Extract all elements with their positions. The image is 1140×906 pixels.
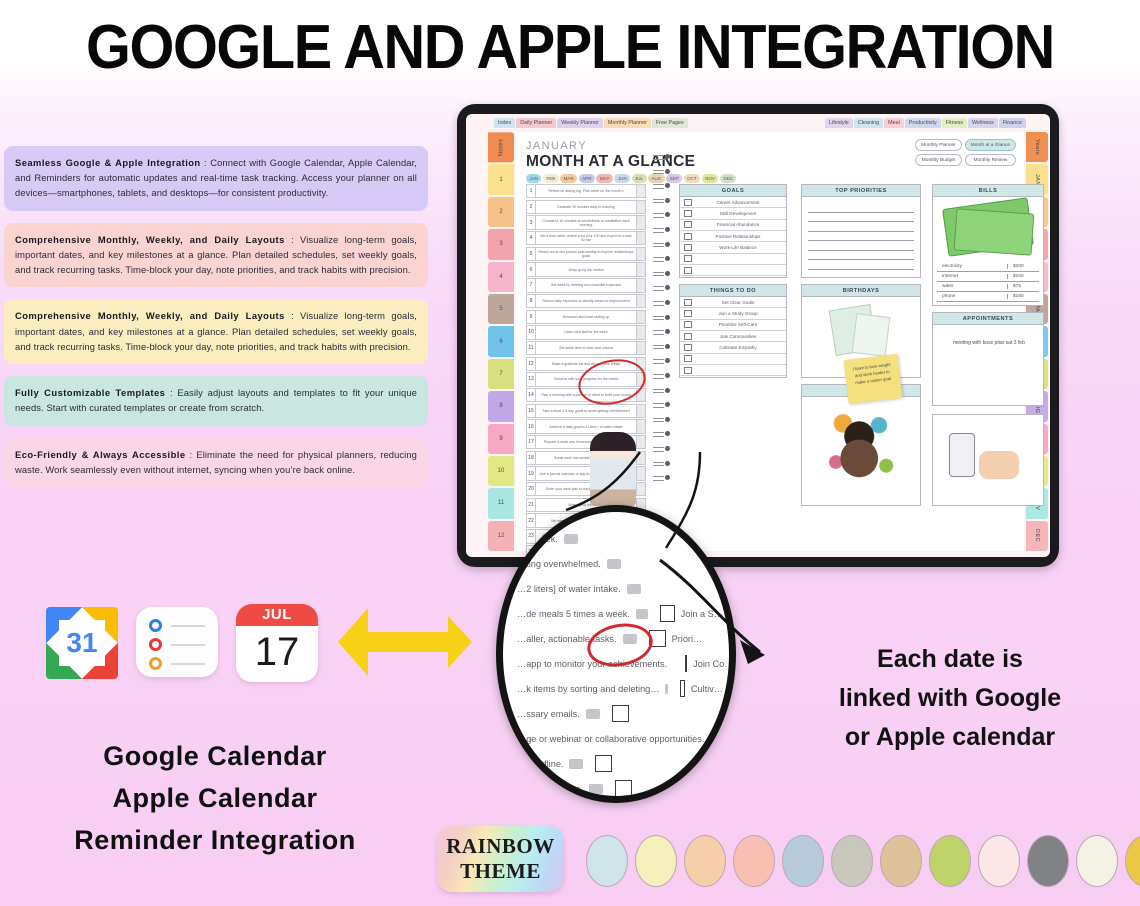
date-number[interactable]: 10 bbox=[526, 325, 536, 339]
goal-row[interactable] bbox=[680, 265, 786, 276]
left-arrow-icon bbox=[336, 602, 476, 682]
magnified-checkbox-label: Priori… bbox=[672, 634, 703, 644]
feature-card-customizable-templates: Fully Customizable Templates : Easily ad… bbox=[4, 376, 428, 425]
date-task[interactable]: Learn new skill for the week bbox=[536, 325, 637, 339]
todo-label: Set Clear Goals bbox=[696, 300, 786, 305]
date-number[interactable]: 5 bbox=[526, 247, 536, 261]
checkbox[interactable] bbox=[684, 267, 692, 274]
birthdays-art-2 bbox=[852, 313, 891, 357]
magnified-checkbox[interactable] bbox=[722, 730, 724, 747]
todo-label: Prioritize Self-Care bbox=[696, 322, 786, 327]
magnified-pip[interactable] bbox=[607, 559, 621, 569]
month-pill-jan[interactable]: JAN bbox=[526, 174, 541, 183]
todo-row[interactable]: Join Communities bbox=[680, 331, 786, 342]
spiral-ring bbox=[653, 198, 670, 203]
sticky-note[interactable]: I have to lose weight and work harder to… bbox=[844, 354, 903, 404]
date-checkbox[interactable] bbox=[637, 325, 646, 339]
feature-card-eco-friendly: Eco-Friendly & Always Accessible : Elimi… bbox=[4, 438, 428, 487]
spiral-ring bbox=[653, 183, 670, 188]
month-pill-may[interactable]: MAY bbox=[596, 174, 612, 183]
color-swatch-5[interactable] bbox=[782, 835, 824, 887]
date-row[interactable]: 11Set aside time to relax and unwind bbox=[526, 341, 646, 355]
color-swatch-7[interactable] bbox=[880, 835, 922, 887]
todo-label: Join a Study Group bbox=[696, 311, 786, 316]
magnified-pip[interactable] bbox=[569, 759, 583, 769]
feature-heading: Seamless Google & Apple Integration bbox=[15, 157, 201, 168]
spiral-ring bbox=[653, 475, 670, 480]
date-number[interactable]: 14 bbox=[526, 388, 536, 402]
todo-row[interactable] bbox=[680, 354, 786, 365]
page-tab-11[interactable]: 11 bbox=[488, 488, 514, 518]
magnified-checkbox-label: Cultiv… bbox=[691, 684, 723, 694]
date-number[interactable]: 21 bbox=[526, 498, 536, 512]
date-checkbox[interactable] bbox=[637, 278, 646, 292]
todo-row[interactable]: Join a Study Group bbox=[680, 308, 786, 319]
feature-heading: Comprehensive Monthly, Weekly, and Daily… bbox=[15, 310, 285, 321]
date-task[interactable]: Reflect on asking big. Plan week vs. the… bbox=[536, 184, 637, 198]
magnified-row[interactable]: …k items by sorting and deleting…Cultiv… bbox=[517, 676, 723, 701]
feature-heading: Eco-Friendly & Always Accessible bbox=[15, 449, 185, 460]
date-checkbox[interactable] bbox=[637, 231, 646, 245]
date-row[interactable]: 15Take a short 1-3 day goals to avoid ge… bbox=[526, 404, 646, 418]
apple-calendar-icon[interactable]: JUL 17 bbox=[236, 604, 318, 682]
page-tab-1[interactable]: 1 bbox=[488, 164, 514, 194]
date-row[interactable]: 9Research and chart setting up bbox=[526, 310, 646, 324]
spiral-ring bbox=[653, 256, 670, 261]
spiral-ring bbox=[653, 431, 670, 436]
page-tab-3[interactable]: 3 bbox=[488, 229, 514, 259]
date-checkbox[interactable] bbox=[637, 341, 646, 355]
tab-index[interactable]: Index bbox=[494, 118, 515, 128]
tab-cleaning[interactable]: Cleaning bbox=[854, 118, 883, 128]
todo-row[interactable]: Set Clear Goals bbox=[680, 297, 786, 308]
goal-row[interactable]: Positive Relationships bbox=[680, 231, 786, 242]
google-calendar-icon[interactable]: 31 bbox=[46, 607, 118, 679]
color-swatch-2[interactable] bbox=[635, 835, 677, 887]
date-number[interactable]: 1 bbox=[526, 184, 536, 198]
girl-illustration bbox=[590, 432, 636, 506]
reminder-dot-red bbox=[149, 638, 162, 651]
tab-wellness[interactable]: Wellness bbox=[968, 118, 998, 128]
goals-rows[interactable]: Career AdvancementSkill DevelopmentFinan… bbox=[680, 197, 786, 276]
color-swatch-3[interactable] bbox=[684, 835, 726, 887]
magnified-text: …app to monitor your achievements. bbox=[517, 659, 667, 669]
goal-label: Work-Life Balance bbox=[696, 245, 786, 250]
checkbox[interactable] bbox=[684, 299, 692, 306]
reminder-dot-orange bbox=[149, 657, 162, 670]
magnified-pip[interactable] bbox=[636, 609, 648, 619]
magnified-row[interactable]: …ting overwhelmed. bbox=[517, 551, 723, 576]
goal-row[interactable] bbox=[680, 254, 786, 265]
planner-view-buttons[interactable]: Monthly PlannerMonth at a GlanceMonthly … bbox=[915, 139, 1016, 166]
checkbox[interactable] bbox=[684, 344, 692, 351]
feature-list: Seamless Google & Apple Integration : Co… bbox=[4, 146, 428, 499]
feature-heading: Fully Customizable Templates bbox=[15, 387, 165, 398]
things-to-do-header: THINGS TO DO bbox=[680, 285, 786, 297]
bill-name: water bbox=[937, 284, 1007, 289]
page-title: GOOGLE AND APPLE INTEGRATION bbox=[40, 12, 1100, 83]
spiral-ring bbox=[653, 446, 670, 451]
date-row[interactable]: 8Record daily expenses to identify areas… bbox=[526, 294, 646, 308]
feature-card-layouts-yellow: Comprehensive Monthly, Weekly, and Daily… bbox=[4, 299, 428, 364]
date-row[interactable]: 5Reach out to one person past identity t… bbox=[526, 247, 646, 261]
magnified-text: …ting overwhelmed. bbox=[517, 559, 601, 569]
date-checkbox[interactable] bbox=[637, 466, 646, 480]
date-number[interactable]: 17 bbox=[526, 435, 536, 449]
caption-line: Google Calendar bbox=[0, 736, 430, 778]
magnified-text: …deadline. bbox=[517, 759, 563, 769]
top-priorities-card: TOP PRIORITIES bbox=[801, 184, 921, 278]
goals-header: GOALS bbox=[680, 185, 786, 197]
magnified-checkbox[interactable] bbox=[685, 655, 687, 672]
reminder-line-3 bbox=[171, 663, 205, 665]
magnified-text: …2 liters] of water intake. bbox=[517, 584, 621, 594]
tab-group-left: IndexDaily PlannerWeekly PlannerMonthly … bbox=[494, 118, 688, 128]
things-to-do-rows[interactable]: Set Clear GoalsJoin a Study GroupPriorit… bbox=[680, 297, 786, 376]
date-row[interactable]: 2Dedicate 30 minutes daily to learning bbox=[526, 200, 646, 214]
spiral-ring bbox=[653, 271, 670, 276]
view-button-monthly-budget[interactable]: Monthly Budget bbox=[915, 154, 962, 166]
month-pill-jul[interactable]: JUL bbox=[632, 174, 647, 183]
date-checkbox[interactable] bbox=[637, 435, 646, 449]
bills-rows[interactable]: electricity$200internet$100water$75phone… bbox=[937, 262, 1039, 302]
spiral-binding bbox=[651, 154, 673, 545]
magnified-text: …ge or webinar or collaborative opportun… bbox=[517, 734, 704, 744]
page-tab-6[interactable]: 6 bbox=[488, 326, 514, 356]
rainbow-theme-badge: RAINBOW THEME bbox=[437, 826, 564, 892]
magnified-text: …nal expenses. bbox=[517, 784, 583, 794]
right-annotation-note: Each date islinked with Googleor Apple c… bbox=[770, 640, 1130, 756]
google-calendar-day: 31 bbox=[59, 620, 105, 666]
date-number[interactable]: 13 bbox=[526, 372, 536, 386]
planner-page: JANUARY MONTH AT A GLANCE Monthly Planne… bbox=[516, 132, 1024, 551]
planner-tabbar: IndexDaily PlannerWeekly PlannerMonthly … bbox=[466, 118, 1050, 131]
page-tab-5[interactable]: 5 bbox=[488, 294, 514, 324]
date-checkbox[interactable] bbox=[637, 482, 646, 496]
bills-card: BILLS electricity$200internet$100water$7… bbox=[932, 184, 1044, 306]
checkbox[interactable] bbox=[684, 199, 692, 206]
bill-amount: $200 bbox=[1007, 264, 1039, 269]
magnified-checkbox[interactable] bbox=[612, 705, 629, 722]
spiral-ring bbox=[653, 300, 670, 305]
date-task[interactable]: Research and chart setting up bbox=[536, 310, 637, 324]
magnified-checkbox[interactable] bbox=[615, 780, 632, 797]
things-to-do-card: THINGS TO DO Set Clear GoalsJoin a Study… bbox=[679, 284, 787, 378]
month-pill-apr[interactable]: APR bbox=[579, 174, 595, 183]
spiral-ring bbox=[653, 315, 670, 320]
date-number[interactable]: 22 bbox=[526, 513, 536, 527]
magnified-text: …k items by sorting and deleting… bbox=[517, 684, 659, 694]
checkbox[interactable] bbox=[684, 244, 692, 251]
checkbox[interactable] bbox=[684, 221, 692, 228]
spiral-ring bbox=[653, 285, 670, 290]
date-number[interactable]: 19 bbox=[526, 466, 536, 480]
goal-row[interactable]: Work-Life Balance bbox=[680, 242, 786, 253]
date-number[interactable]: 11 bbox=[526, 341, 536, 355]
bills-header: BILLS bbox=[933, 185, 1043, 197]
spiral-ring bbox=[653, 227, 670, 232]
bill-row[interactable]: internet$100 bbox=[937, 272, 1039, 282]
month-tab-dec[interactable]: DEC bbox=[1026, 521, 1048, 551]
spiral-ring bbox=[653, 461, 670, 466]
caption-line: Apple Calendar bbox=[0, 778, 430, 820]
spiral-ring bbox=[653, 344, 670, 349]
goal-row[interactable]: Career Advancement bbox=[680, 197, 786, 208]
date-row[interactable]: 6Wrap up by the market bbox=[526, 262, 646, 276]
date-row[interactable]: 3Commit to 15 minutes of mindfulness or … bbox=[526, 215, 646, 229]
magnified-text: …de meals 5 times a week. bbox=[517, 609, 630, 619]
goal-row[interactable]: Financial Abundance bbox=[680, 220, 786, 231]
checkbox[interactable] bbox=[684, 310, 692, 317]
date-row[interactable]: 7Set week by deleting non-essential expe… bbox=[526, 278, 646, 292]
magnified-text: …ssary emails. bbox=[517, 709, 580, 719]
bill-name: internet bbox=[937, 274, 1007, 279]
appointments-header: APPOINTMENTS bbox=[933, 313, 1043, 325]
bill-amount: $75 bbox=[1007, 284, 1039, 289]
date-number[interactable]: 15 bbox=[526, 404, 536, 418]
appointments-note[interactable]: meeting with boss pitar sat 3 feb bbox=[949, 339, 1029, 349]
goal-row[interactable]: Skill Development bbox=[680, 208, 786, 219]
month-pill-oct[interactable]: OCT bbox=[684, 174, 700, 183]
badge-line-2: THEME bbox=[460, 859, 541, 884]
tab-monthly-planner[interactable]: Monthly Planner bbox=[604, 118, 651, 128]
month-tab-years[interactable]: Years bbox=[1026, 132, 1048, 162]
date-checkbox[interactable] bbox=[637, 294, 646, 308]
bill-row[interactable]: water$75 bbox=[937, 282, 1039, 292]
page-tab-4[interactable]: 4 bbox=[488, 262, 514, 292]
date-number[interactable]: 12 bbox=[526, 357, 536, 371]
magnified-checkbox[interactable] bbox=[595, 755, 612, 772]
magnified-row[interactable]: …nal expenses. bbox=[517, 776, 723, 801]
feature-heading: Comprehensive Monthly, Weekly, and Daily… bbox=[15, 234, 285, 245]
todo-row[interactable]: Cultivate Empathy bbox=[680, 342, 786, 353]
date-task[interactable]: Set aside time to relax and unwind bbox=[536, 341, 637, 355]
color-swatch-9[interactable] bbox=[978, 835, 1020, 887]
goal-label: Financial Abundance bbox=[696, 222, 786, 227]
date-number[interactable]: 8 bbox=[526, 294, 536, 308]
checkbox[interactable] bbox=[684, 333, 692, 340]
todo-label: Join Communities bbox=[696, 334, 786, 339]
top-priorities-header: TOP PRIORITIES bbox=[802, 185, 920, 197]
hand-icon bbox=[979, 451, 1019, 479]
tab-fitness[interactable]: Fitness bbox=[942, 118, 967, 128]
magnified-pip[interactable] bbox=[586, 709, 600, 719]
right-note-line: Each date is bbox=[770, 640, 1130, 679]
page-tab-7[interactable]: 7 bbox=[488, 359, 514, 389]
date-number[interactable]: 20 bbox=[526, 482, 536, 496]
magnified-checkbox[interactable] bbox=[680, 680, 685, 697]
magnified-pip[interactable] bbox=[564, 534, 578, 544]
color-swatch-row[interactable] bbox=[586, 835, 1140, 887]
date-number[interactable]: 9 bbox=[526, 310, 536, 324]
date-task[interactable]: Dedicate 30 minutes daily to learning bbox=[536, 200, 637, 214]
magnified-checkbox[interactable] bbox=[660, 605, 675, 622]
date-checkbox[interactable] bbox=[637, 262, 646, 276]
date-task[interactable]: Commit to 15 minutes of mindfulness or m… bbox=[536, 215, 637, 229]
feature-card-layouts-pink: Comprehensive Monthly, Weekly, and Daily… bbox=[4, 223, 428, 288]
date-number[interactable]: 18 bbox=[526, 451, 536, 465]
page-tab-10[interactable]: 10 bbox=[488, 456, 514, 486]
spiral-ring bbox=[653, 169, 670, 174]
spiral-ring bbox=[653, 358, 670, 363]
date-checkbox[interactable] bbox=[637, 215, 646, 229]
date-number[interactable]: 7 bbox=[526, 278, 536, 292]
date-checkbox[interactable] bbox=[637, 419, 646, 433]
tab-free-pages[interactable]: Free Pages bbox=[652, 118, 688, 128]
date-task[interactable]: Record daily expenses to identify areas … bbox=[536, 294, 637, 308]
top-priorities-lines[interactable] bbox=[802, 197, 920, 270]
date-task[interactable]: Take a short 1-3 day goals to avoid gett… bbox=[536, 404, 637, 418]
goal-label: Career Advancement bbox=[696, 200, 786, 205]
tab-finance[interactable]: Finance bbox=[999, 118, 1026, 128]
money-illustration-2 bbox=[954, 208, 1035, 255]
right-note-line: or Apple calendar bbox=[770, 718, 1130, 757]
magnified-row[interactable]: …ssary emails. bbox=[517, 701, 723, 726]
page-tab-12[interactable]: 12 bbox=[488, 521, 514, 551]
date-row[interactable]: 10Learn new skill for the week bbox=[526, 325, 646, 339]
badge-line-1: RAINBOW bbox=[446, 834, 555, 859]
spiral-ring bbox=[653, 154, 670, 159]
magnified-pip[interactable] bbox=[627, 584, 641, 594]
color-swatch-12[interactable] bbox=[1125, 835, 1140, 887]
planner-month: JANUARY bbox=[526, 140, 695, 152]
bill-name: phone bbox=[937, 294, 1007, 299]
right-note-line: linked with Google bbox=[770, 679, 1130, 718]
page-tab-2[interactable]: 2 bbox=[488, 197, 514, 227]
apple-reminders-icon[interactable] bbox=[136, 607, 218, 677]
apple-calendar-day: 17 bbox=[236, 626, 318, 678]
magnified-row[interactable]: …ge or webinar or collaborative opportun… bbox=[517, 726, 723, 751]
checkbox[interactable] bbox=[684, 367, 692, 374]
date-task[interactable]: Set a time-table, review a list your 100… bbox=[536, 231, 637, 245]
bill-row[interactable]: electricity$200 bbox=[937, 262, 1039, 272]
date-task[interactable]: Reach out to one person past identity to… bbox=[536, 247, 637, 261]
todo-row[interactable]: Prioritize Self-Care bbox=[680, 320, 786, 331]
date-checkbox[interactable] bbox=[637, 451, 646, 465]
tab-weekly-planner[interactable]: Weekly Planner bbox=[557, 118, 603, 128]
magnified-pip[interactable] bbox=[589, 784, 603, 794]
tablet-screen: IndexDaily PlannerWeekly PlannerMonthly … bbox=[466, 114, 1050, 557]
checkbox[interactable] bbox=[684, 233, 692, 240]
magnified-row[interactable]: …deadline. bbox=[517, 751, 723, 776]
view-button-monthly-planner[interactable]: Monthly Planner bbox=[915, 139, 962, 151]
tab-group-right: LifestyleCleaningMealProductivityFitness… bbox=[825, 118, 1026, 128]
page-tab-notes[interactable]: Notes bbox=[488, 132, 514, 162]
spiral-ring bbox=[653, 212, 670, 217]
date-checkbox[interactable] bbox=[637, 404, 646, 418]
goal-label: Positive Relationships bbox=[696, 234, 786, 239]
phone-illustration-card bbox=[932, 414, 1044, 506]
date-row[interactable]: 1Reflect on asking big. Plan week vs. th… bbox=[526, 184, 646, 198]
color-swatch-1[interactable] bbox=[586, 835, 628, 887]
checkbox[interactable] bbox=[684, 355, 692, 362]
color-swatch-11[interactable] bbox=[1076, 835, 1118, 887]
bill-name: electricity bbox=[937, 264, 1007, 269]
month-pill-jun[interactable]: JUN bbox=[614, 174, 630, 183]
date-row[interactable]: 4Set a time-table, review a list your 10… bbox=[526, 231, 646, 245]
phone-icon bbox=[949, 433, 975, 477]
page-number-strip: Notes123456789101112 bbox=[488, 132, 514, 551]
date-number[interactable]: 3 bbox=[526, 215, 536, 229]
todo-label: Cultivate Empathy bbox=[696, 345, 786, 350]
goal-label: Skill Development bbox=[696, 211, 786, 216]
appointments-card: APPOINTMENTS meeting with boss pitar sat… bbox=[932, 312, 1044, 406]
color-swatch-4[interactable] bbox=[733, 835, 775, 887]
checkbox[interactable] bbox=[684, 255, 692, 262]
magnified-checkbox-label: Join Co… bbox=[693, 659, 733, 669]
date-checkbox[interactable] bbox=[637, 200, 646, 214]
goals-card: GOALS Career AdvancementSkill Developmen… bbox=[679, 184, 787, 278]
color-swatch-8[interactable] bbox=[929, 835, 971, 887]
color-swatch-10[interactable] bbox=[1027, 835, 1069, 887]
spiral-ring bbox=[653, 402, 670, 407]
tab-productivity[interactable]: Productivity bbox=[905, 118, 941, 128]
todo-row[interactable] bbox=[680, 365, 786, 376]
month-pill-mar[interactable]: MAR bbox=[560, 174, 577, 183]
reminder-line-2 bbox=[171, 644, 205, 646]
date-checkbox[interactable] bbox=[637, 310, 646, 324]
month-pill-nov[interactable]: NOV bbox=[702, 174, 719, 183]
date-row[interactable]: 16Achieve a daily goal to 2 Liters / of … bbox=[526, 419, 646, 433]
tab-daily-planner[interactable]: Daily Planner bbox=[516, 118, 556, 128]
month-pill-feb[interactable]: FEB bbox=[543, 174, 559, 183]
view-button-month-at-a-glance[interactable]: Month at a Glance bbox=[965, 139, 1016, 151]
spiral-ring bbox=[653, 329, 670, 334]
tablet-device: IndexDaily PlannerWeekly PlannerMonthly … bbox=[457, 104, 1059, 567]
date-task[interactable]: Set week by deleting non-essential expen… bbox=[536, 278, 637, 292]
spiral-ring bbox=[653, 417, 670, 422]
magnified-pip[interactable] bbox=[665, 684, 668, 694]
date-number[interactable]: 6 bbox=[526, 262, 536, 276]
page-header: GOOGLE AND APPLE INTEGRATION bbox=[0, 0, 1140, 98]
reminder-line-1 bbox=[171, 625, 205, 627]
reminder-dot-blue bbox=[149, 619, 162, 632]
color-swatch-6[interactable] bbox=[831, 835, 873, 887]
bill-row[interactable]: phone$150 bbox=[937, 292, 1039, 302]
spiral-ring bbox=[653, 373, 670, 378]
date-task[interactable]: Wrap up by the market bbox=[536, 262, 637, 276]
page-tab-8[interactable]: 8 bbox=[488, 391, 514, 421]
bill-amount: $150 bbox=[1007, 294, 1039, 299]
caption-line: Reminder Integration bbox=[0, 820, 430, 862]
birthdays-header: BIRTHDAYS bbox=[802, 285, 920, 297]
date-number[interactable]: 2 bbox=[526, 200, 536, 214]
checkbox[interactable] bbox=[684, 210, 692, 217]
apple-calendar-month: JUL bbox=[236, 604, 318, 626]
notes-illustration bbox=[816, 405, 906, 497]
page-tab-9[interactable]: 9 bbox=[488, 424, 514, 454]
magnified-row[interactable]: …2 liters] of water intake. bbox=[517, 576, 723, 601]
date-checkbox[interactable] bbox=[637, 184, 646, 198]
date-number[interactable]: 23 bbox=[526, 529, 536, 543]
spiral-ring bbox=[653, 388, 670, 393]
checkbox[interactable] bbox=[684, 321, 692, 328]
month-pill-dec[interactable]: DEC bbox=[720, 174, 736, 183]
date-number[interactable]: 16 bbox=[526, 419, 536, 433]
tab-meal[interactable]: Meal bbox=[884, 118, 904, 128]
magnified-row[interactable]: …de meals 5 times a week.Join a S… bbox=[517, 601, 723, 626]
date-checkbox[interactable] bbox=[637, 247, 646, 261]
view-button-monthly-review[interactable]: Monthly Review bbox=[965, 154, 1016, 166]
magnified-checkbox-label: Join a S… bbox=[681, 609, 723, 619]
month-pill-row[interactable]: JANFEBMARAPRMAYJUNJULAUGSEPOCTNOVDEC bbox=[526, 174, 736, 183]
spiral-ring bbox=[653, 242, 670, 247]
feature-card-seamless-integration: Seamless Google & Apple Integration : Co… bbox=[4, 146, 428, 211]
bill-amount: $100 bbox=[1007, 274, 1039, 279]
date-number[interactable]: 4 bbox=[526, 231, 536, 245]
tab-lifestyle[interactable]: Lifestyle bbox=[825, 118, 853, 128]
bottom-caption: Google CalendarApple CalendarReminder In… bbox=[0, 736, 430, 862]
